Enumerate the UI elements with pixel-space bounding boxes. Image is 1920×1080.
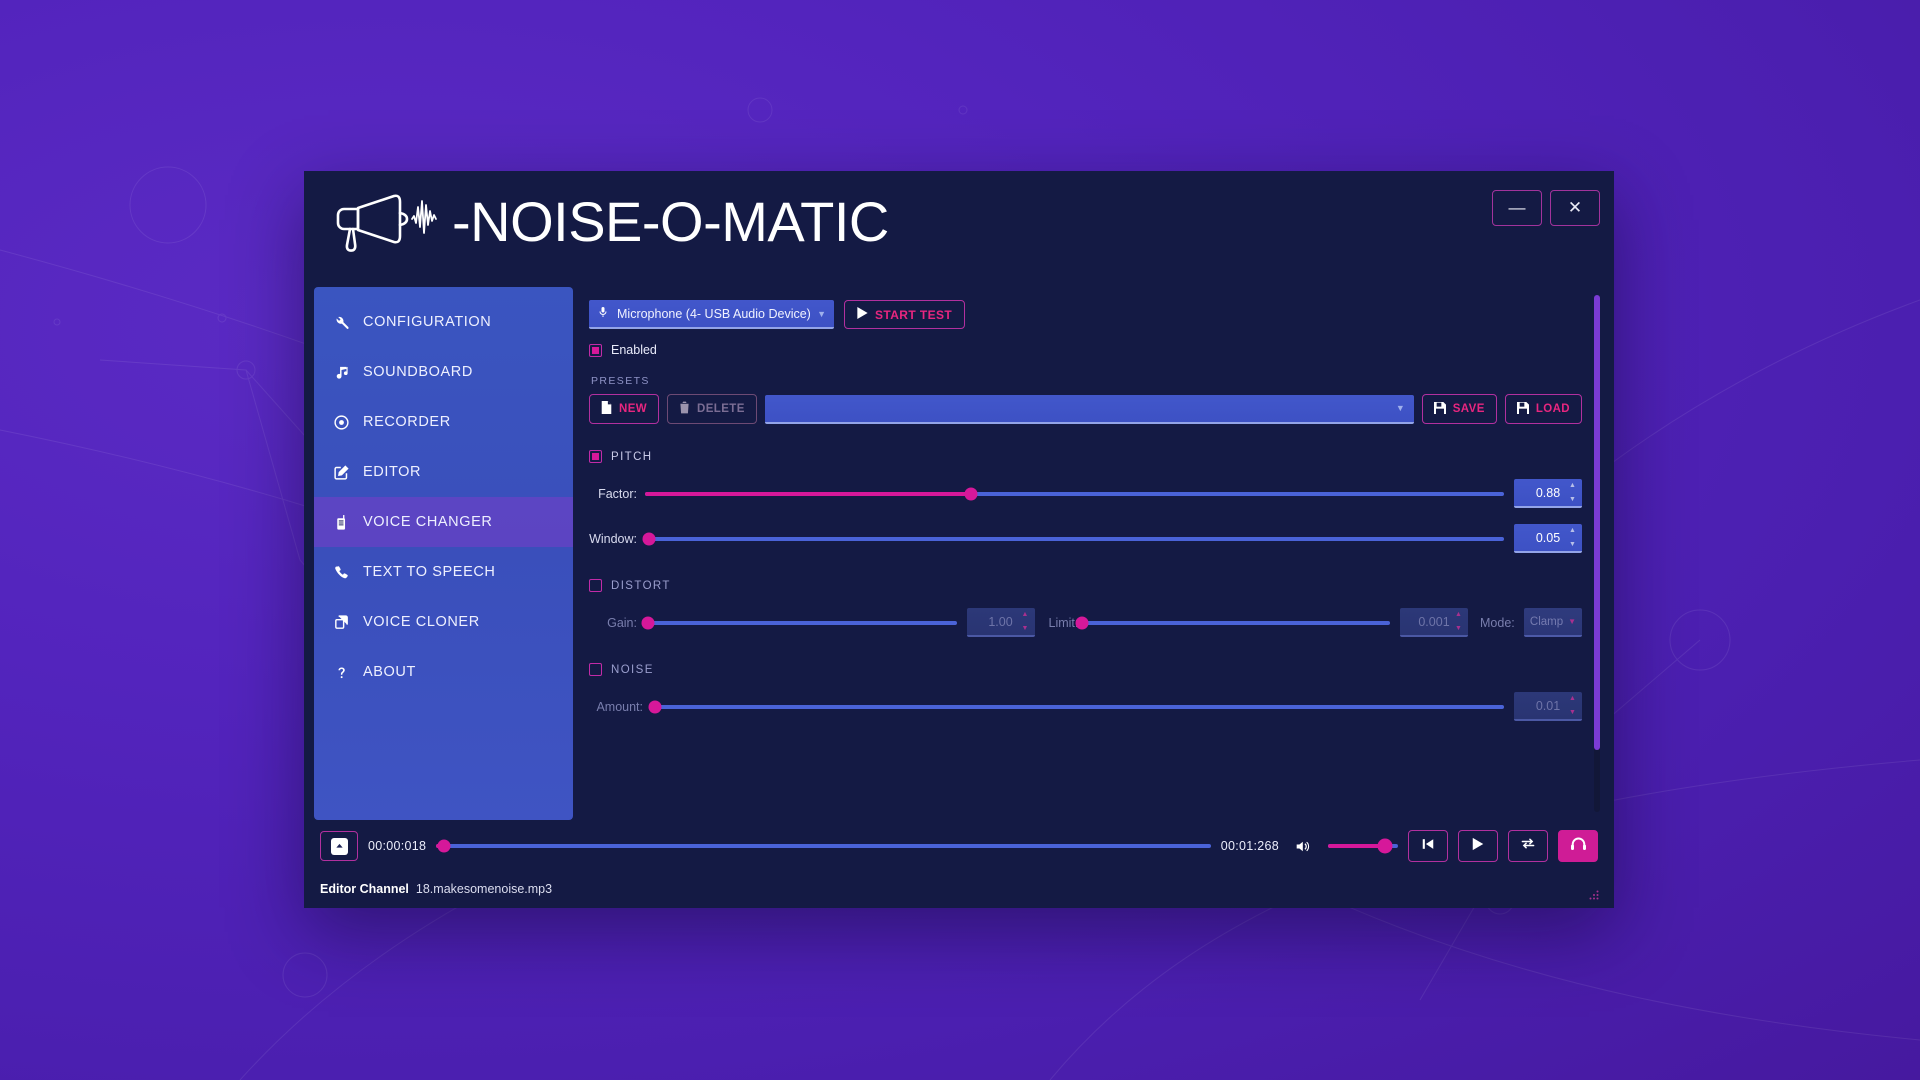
walkie-talkie-icon xyxy=(331,512,351,532)
copy-icon xyxy=(331,612,351,632)
spinner-up-icon: ▲ xyxy=(1022,611,1031,618)
spinner-arrows[interactable]: ▲▼ xyxy=(1455,611,1464,632)
close-icon: ✕ xyxy=(1568,198,1582,218)
slider-handle[interactable] xyxy=(1075,616,1088,629)
window-controls: — ✕ xyxy=(1492,190,1600,226)
app-title: -NOISE-O-MATIC xyxy=(452,194,889,250)
noise-amount-label: Amount: xyxy=(589,700,651,714)
sidebar-item-label: ABOUT xyxy=(363,664,416,680)
sidebar-item-label: CONFIGURATION xyxy=(363,314,491,330)
pitch-label: PITCH xyxy=(611,451,653,463)
close-button[interactable]: ✕ xyxy=(1550,190,1600,226)
device-row: Microphone (4- USB Audio Device) ▼ START… xyxy=(589,300,1582,329)
distort-gain-input[interactable]: 1.00 ▲▼ xyxy=(967,608,1035,637)
volume-handle[interactable] xyxy=(1378,839,1393,854)
wrench-icon xyxy=(331,312,351,332)
distort-gain-slider[interactable] xyxy=(645,621,957,625)
noise-label: NOISE xyxy=(611,664,654,676)
pitch-window-value: 0.05 xyxy=(1536,531,1560,545)
distort-gain-label: Gain: xyxy=(589,616,645,630)
eject-button[interactable] xyxy=(320,831,358,861)
pencil-square-icon xyxy=(331,462,351,482)
record-circle-icon xyxy=(331,412,351,432)
audio-device-value: Microphone (4- USB Audio Device) xyxy=(617,307,811,321)
total-time: 00:01:268 xyxy=(1221,839,1279,853)
window-body: CONFIGURATION SOUNDBOARD RECORDER EDITOR xyxy=(304,287,1614,820)
noise-checkbox[interactable] xyxy=(589,663,602,676)
spinner-down-icon: ▼ xyxy=(1569,709,1578,716)
pitch-checkbox[interactable] xyxy=(589,450,602,463)
preset-delete-label: DELETE xyxy=(697,403,745,415)
play-icon xyxy=(1471,837,1485,856)
pitch-factor-row: Factor: 0.88 ▲▼ xyxy=(589,479,1582,508)
previous-button[interactable] xyxy=(1408,830,1448,862)
sidebar-item-editor[interactable]: EDITOR xyxy=(314,447,573,497)
title-bar[interactable]: -NOISE-O-MATIC — ✕ xyxy=(304,171,1614,287)
voice-changer-panel: Microphone (4- USB Audio Device) ▼ START… xyxy=(573,287,1604,820)
audio-device-select[interactable]: Microphone (4- USB Audio Device) ▼ xyxy=(589,300,834,329)
sidebar-item-label: VOICE CHANGER xyxy=(363,514,492,530)
pitch-window-label: Window: xyxy=(589,532,645,546)
pitch-factor-input[interactable]: 0.88 ▲▼ xyxy=(1514,479,1582,508)
enabled-row: Enabled xyxy=(589,343,1582,357)
preset-new-label: NEW xyxy=(619,403,647,415)
sidebar-item-label: RECORDER xyxy=(363,414,451,430)
sidebar-item-label: SOUNDBOARD xyxy=(363,364,473,380)
distort-checkbox[interactable] xyxy=(589,579,602,592)
enabled-label: Enabled xyxy=(611,343,657,357)
enabled-checkbox[interactable] xyxy=(589,344,602,357)
music-note-icon xyxy=(331,362,351,382)
trash-icon xyxy=(679,401,690,417)
spinner-arrows[interactable]: ▲▼ xyxy=(1569,482,1578,503)
noise-amount-input[interactable]: 0.01 ▲▼ xyxy=(1514,692,1582,721)
preset-save-button[interactable]: SAVE xyxy=(1422,394,1497,424)
scrollbar-thumb[interactable] xyxy=(1594,295,1600,750)
start-test-button[interactable]: START TEST xyxy=(844,300,965,329)
slider-handle[interactable] xyxy=(965,487,978,500)
preset-load-button[interactable]: LOAD xyxy=(1505,394,1582,424)
distort-limit-slider[interactable] xyxy=(1079,621,1391,625)
sidebar-item-voice-cloner[interactable]: VOICE CLONER xyxy=(314,597,573,647)
spinner-arrows[interactable]: ▲▼ xyxy=(1022,611,1031,632)
content-scrollbar[interactable] xyxy=(1594,295,1600,812)
play-icon xyxy=(857,307,868,322)
noise-amount-value: 0.01 xyxy=(1536,699,1560,713)
play-button[interactable] xyxy=(1458,830,1498,862)
distort-mode-value: Clamp xyxy=(1530,616,1563,628)
repeat-icon xyxy=(1520,836,1536,856)
pitch-factor-slider[interactable] xyxy=(645,492,1504,496)
pitch-factor-value: 0.88 xyxy=(1536,486,1560,500)
sidebar-item-label: TEXT TO SPEECH xyxy=(363,564,496,580)
chevron-down-icon: ▼ xyxy=(1396,403,1405,413)
start-test-label: START TEST xyxy=(875,308,952,322)
preset-delete-button[interactable]: DELETE xyxy=(667,394,757,424)
preset-select[interactable]: ▼ xyxy=(765,395,1414,424)
spinner-arrows[interactable]: ▲▼ xyxy=(1569,695,1578,716)
distort-gain-value: 1.00 xyxy=(988,615,1012,629)
noise-header: NOISE xyxy=(589,663,1582,676)
preset-new-button[interactable]: NEW xyxy=(589,394,659,424)
chevron-down-icon: ▼ xyxy=(1568,617,1576,626)
seek-bar[interactable] xyxy=(436,844,1210,848)
distort-header: DISTORT xyxy=(589,579,1582,592)
sidebar-item-configuration[interactable]: CONFIGURATION xyxy=(314,297,573,347)
pitch-window-row: Window: 0.05 ▲▼ xyxy=(589,524,1582,553)
sidebar-item-text-to-speech[interactable]: TEXT TO SPEECH xyxy=(314,547,573,597)
noise-amount-slider[interactable] xyxy=(651,705,1504,709)
pitch-window-slider[interactable] xyxy=(645,537,1504,541)
file-name: 18.makesomenoise.mp3 xyxy=(416,882,552,896)
file-icon xyxy=(601,401,612,417)
sidebar-item-label: EDITOR xyxy=(363,464,421,480)
spinner-up-icon: ▲ xyxy=(1569,482,1578,489)
headphones-icon xyxy=(1570,836,1587,856)
pitch-factor-label: Factor: xyxy=(589,487,645,501)
skip-back-icon xyxy=(1421,837,1435,856)
slider-handle[interactable] xyxy=(649,700,662,713)
megaphone-waveform-icon xyxy=(322,185,454,259)
sidebar-item-about[interactable]: ABOUT xyxy=(314,647,573,697)
phone-icon xyxy=(331,562,351,582)
spinner-up-icon: ▲ xyxy=(1455,611,1464,618)
floppy-disk-icon xyxy=(1517,402,1529,417)
preset-save-label: SAVE xyxy=(1453,403,1485,415)
channel-label: Editor Channel xyxy=(320,882,409,896)
slider-handle[interactable] xyxy=(642,616,655,629)
minimize-button[interactable]: — xyxy=(1492,190,1542,226)
noise-amount-row: Amount: 0.01 ▲▼ xyxy=(589,692,1582,721)
presets-heading: PRESETS xyxy=(591,375,1582,387)
chevron-down-icon: ▼ xyxy=(817,309,826,319)
transport-bar: 00:00:018 00:01:268 xyxy=(314,820,1604,872)
pitch-header: PITCH xyxy=(589,450,1582,463)
distort-limit-label: Limit: xyxy=(1035,616,1079,630)
monitor-button[interactable] xyxy=(1558,830,1598,862)
pitch-window-input[interactable]: 0.05 ▲▼ xyxy=(1514,524,1582,553)
application-window: -NOISE-O-MATIC — ✕ CONFIGURATION xyxy=(304,171,1614,908)
sidebar-item-voice-changer[interactable]: VOICE CHANGER xyxy=(314,497,573,547)
loop-button[interactable] xyxy=(1508,830,1548,862)
distort-label: DISTORT xyxy=(611,580,671,592)
sidebar-item-label: VOICE CLONER xyxy=(363,614,480,630)
spinner-down-icon: ▼ xyxy=(1022,625,1031,632)
preset-load-label: LOAD xyxy=(1536,403,1570,415)
distort-limit-input[interactable]: 0.001 ▲▼ xyxy=(1400,608,1468,637)
seek-handle[interactable] xyxy=(438,840,451,853)
status-bar: Editor Channel 18.makesomenoise.mp3 xyxy=(314,872,1604,906)
sidebar-item-soundboard[interactable]: SOUNDBOARD xyxy=(314,347,573,397)
spinner-down-icon: ▼ xyxy=(1455,625,1464,632)
distort-limit-value: 0.001 xyxy=(1418,615,1449,629)
spinner-down-icon: ▼ xyxy=(1569,541,1578,548)
sidebar: CONFIGURATION SOUNDBOARD RECORDER EDITOR xyxy=(314,287,573,820)
spinner-up-icon: ▲ xyxy=(1569,527,1578,534)
distort-mode-select[interactable]: Clamp ▼ xyxy=(1524,608,1582,637)
spinner-arrows[interactable]: ▲▼ xyxy=(1569,527,1578,548)
resize-grip[interactable] xyxy=(1586,888,1600,902)
distort-row: Gain: 1.00 ▲▼ Limit: 0.001 ▲▼ Mode: xyxy=(589,608,1582,637)
presets-row: NEW DELETE ▼ SAVE xyxy=(589,394,1582,424)
sidebar-item-recorder[interactable]: RECORDER xyxy=(314,397,573,447)
distort-mode-label: Mode: xyxy=(1468,616,1514,630)
speaker-icon[interactable] xyxy=(1295,839,1312,854)
question-mark-icon xyxy=(331,662,351,682)
spinner-up-icon: ▲ xyxy=(1569,695,1578,702)
slider-handle[interactable] xyxy=(643,532,656,545)
microphone-icon xyxy=(597,305,609,322)
minimize-icon: — xyxy=(1509,198,1526,218)
spinner-down-icon: ▼ xyxy=(1569,496,1578,503)
current-time: 00:00:018 xyxy=(368,839,426,853)
volume-slider[interactable] xyxy=(1328,844,1398,848)
eject-icon xyxy=(331,838,348,855)
app-logo: -NOISE-O-MATIC xyxy=(322,185,889,259)
floppy-disk-icon xyxy=(1434,402,1446,417)
